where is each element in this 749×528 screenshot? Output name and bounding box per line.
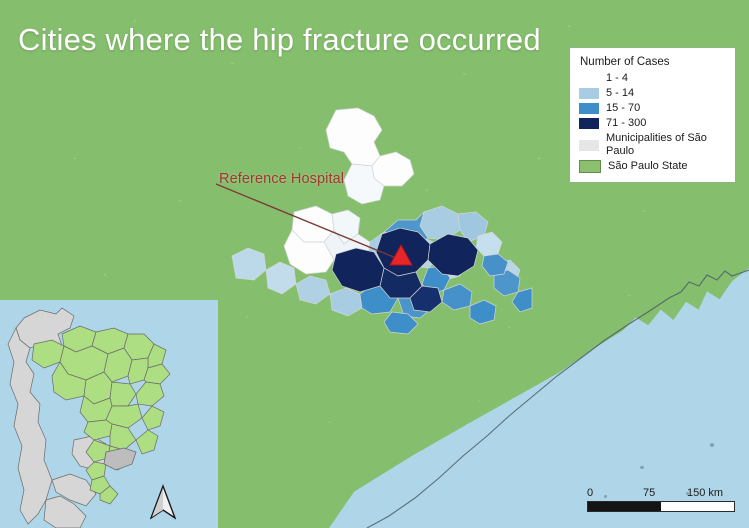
hip-fracture-choropleth-map: Reference Hospital Cities where the hip … bbox=[0, 0, 749, 528]
north-arrow-icon bbox=[150, 484, 176, 524]
inset-locator-map bbox=[0, 300, 218, 528]
scale-tick-0: 0 bbox=[587, 487, 593, 499]
scale-segment-light bbox=[661, 502, 734, 511]
municipality-polygon bbox=[442, 284, 472, 310]
scale-segment-dark bbox=[588, 502, 661, 511]
reference-hospital-label: Reference Hospital bbox=[219, 171, 344, 187]
islet bbox=[640, 466, 644, 469]
legend-label: São Paulo State bbox=[608, 160, 688, 173]
scale-bar-labels: 0 75 150 km bbox=[587, 487, 735, 501]
legend-label: 15 - 70 bbox=[606, 102, 640, 115]
legend-item-state: São Paulo State bbox=[579, 160, 727, 173]
legend-label: 71 - 300 bbox=[606, 117, 646, 130]
municipality-choropleth-layer bbox=[232, 108, 532, 338]
legend-item-municipalities: Municipalities of São Paulo bbox=[579, 132, 727, 158]
legend-item-15-70: 15 - 70 bbox=[579, 102, 727, 115]
legend-label: 1 - 4 bbox=[606, 72, 628, 85]
municipality-polygon bbox=[232, 248, 266, 280]
municipality-polygon bbox=[476, 232, 502, 256]
scale-tick-150: 150 km bbox=[687, 487, 723, 499]
legend-swatch bbox=[579, 160, 601, 173]
red-triangle-marker bbox=[389, 244, 413, 266]
legend-item-1-4: 1 - 4 bbox=[579, 72, 727, 85]
municipality-polygon bbox=[330, 288, 362, 316]
legend-label: Municipalities of São Paulo bbox=[606, 132, 727, 158]
municipality-polygon bbox=[326, 108, 382, 166]
legend-item-5-14: 5 - 14 bbox=[579, 87, 727, 100]
municipality-polygon bbox=[482, 254, 508, 276]
legend-swatch bbox=[579, 140, 599, 151]
page-title: Cities where the hip fracture occurred bbox=[18, 22, 541, 58]
legend-title: Number of Cases bbox=[580, 56, 727, 68]
scale-tick-75: 75 bbox=[643, 487, 655, 499]
legend-swatch bbox=[579, 103, 599, 114]
scale-bar-segments bbox=[587, 501, 735, 512]
municipality-polygon bbox=[470, 300, 496, 324]
scale-bar: 0 75 150 km bbox=[587, 487, 735, 512]
municipality-polygon bbox=[296, 276, 330, 304]
legend-swatch bbox=[579, 88, 599, 99]
legend-label: 5 - 14 bbox=[606, 87, 634, 100]
islet bbox=[710, 443, 714, 447]
municipality-polygon bbox=[266, 262, 296, 294]
legend-swatch bbox=[579, 118, 599, 129]
legend-item-71-300: 71 - 300 bbox=[579, 117, 727, 130]
legend-panel: Number of Cases 1 - 4 5 - 14 15 - 70 71 … bbox=[570, 48, 735, 182]
